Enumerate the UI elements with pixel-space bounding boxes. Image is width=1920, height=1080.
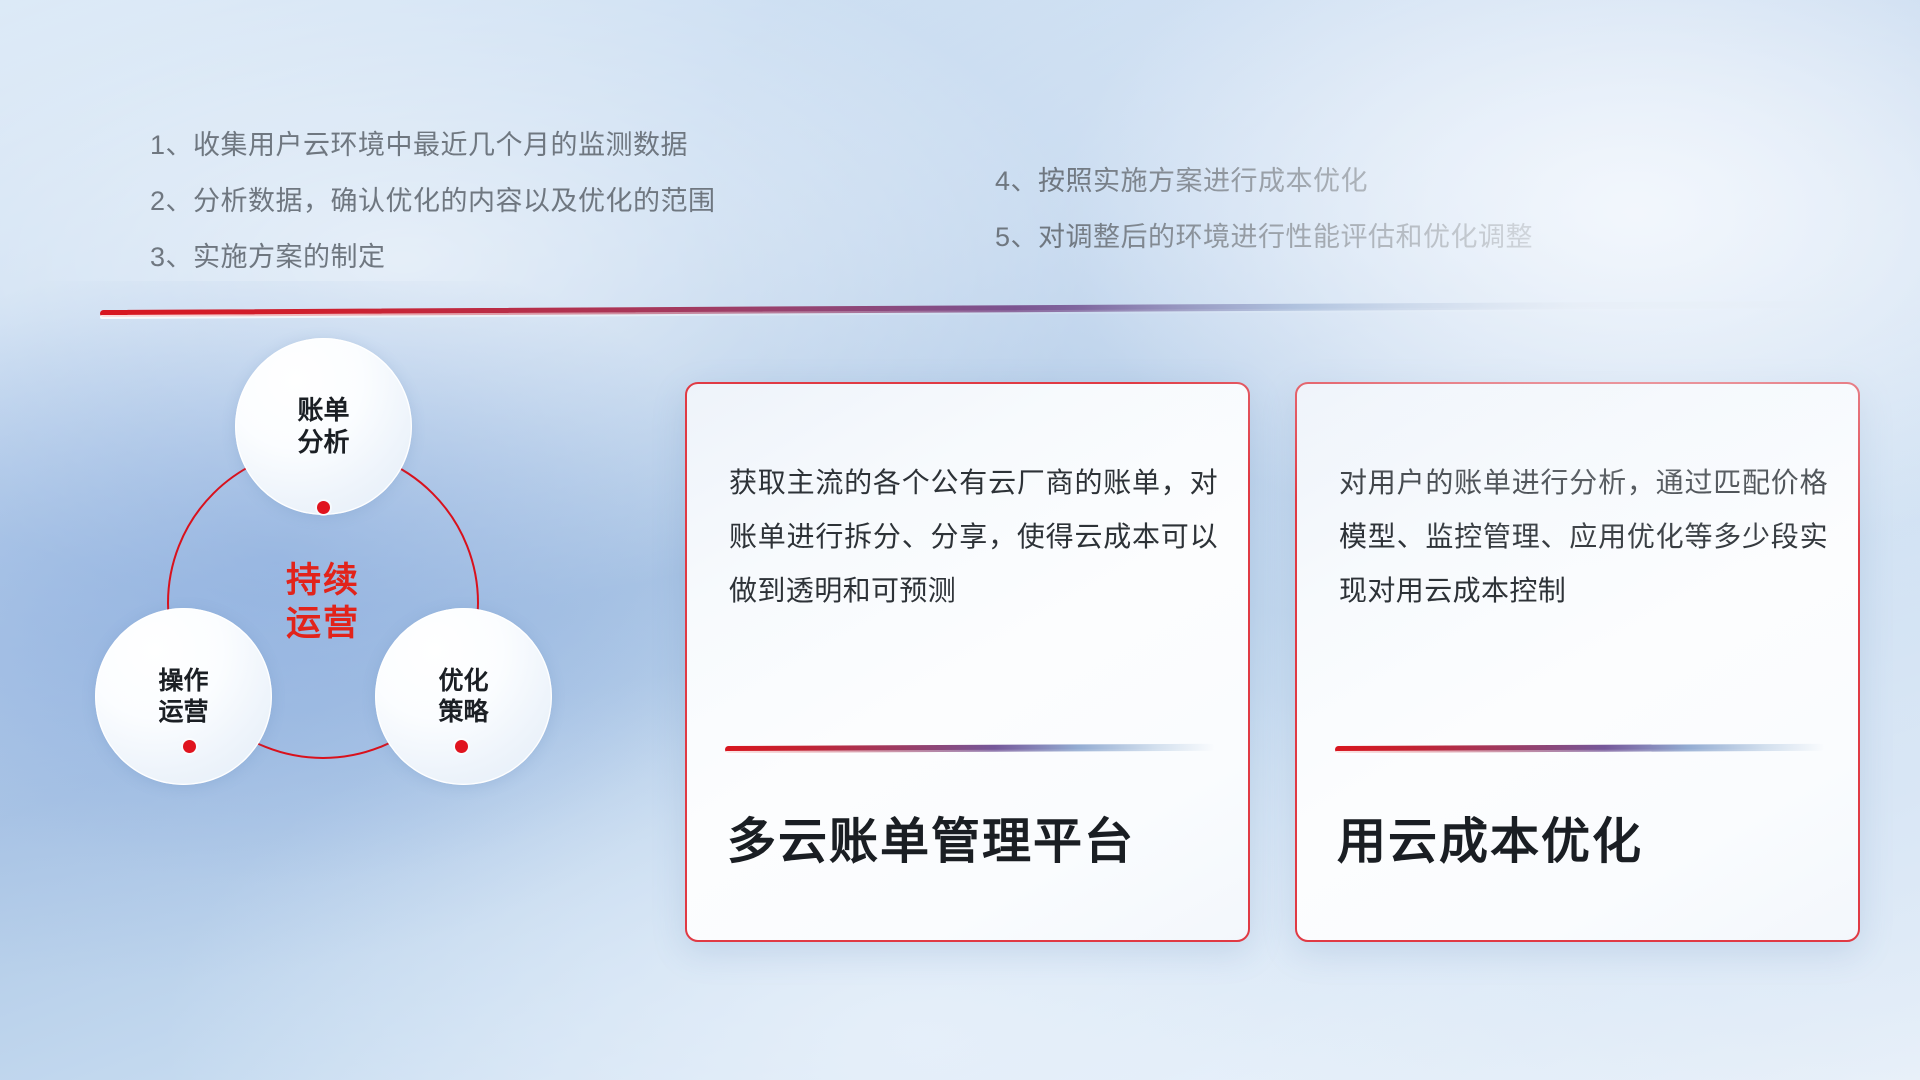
bubble-label-line2: 运营	[158, 697, 208, 728]
card-body-text: 对用户的账单进行分析，通过匹配价格模型、监控管理、应用优化等多少段实现对用云成本…	[1339, 456, 1828, 618]
card-divider	[1335, 744, 1825, 753]
venn-bubble-optimization-strategy[interactable]: 优化 策略	[375, 608, 552, 785]
slide-canvas: 1、收集用户云环境中最近几个月的监测数据 2、分析数据，确认优化的内容以及优化的…	[0, 0, 1920, 1080]
bubble-label-line2: 策略	[438, 697, 488, 728]
venn-node-left-dot	[183, 740, 196, 753]
bubble-label-line1: 优化	[438, 666, 488, 697]
venn-node-right-dot	[455, 740, 468, 753]
bubble-label-line2: 分析	[297, 427, 349, 459]
step-item: 4、按照实施方案进行成本优化	[995, 168, 1533, 195]
venn-node-top-dot	[317, 501, 330, 514]
steps-list-right: 4、按照实施方案进行成本优化 5、对调整后的环境进行性能评估和优化调整	[995, 168, 1533, 280]
step-item: 2、分析数据，确认优化的内容以及优化的范围	[150, 188, 716, 215]
step-item: 1、收集用户云环境中最近几个月的监测数据	[150, 132, 716, 159]
card-cloud-cost-optimization[interactable]: 对用户的账单进行分析，通过匹配价格模型、监控管理、应用优化等多少段实现对用云成本…	[1295, 382, 1860, 942]
venn-bubble-bill-analysis[interactable]: 账单 分析	[235, 338, 412, 515]
card-multicloud-billing-platform[interactable]: 获取主流的各个公有云厂商的账单，对账单进行拆分、分享，使得云成本可以做到透明和可…	[685, 382, 1250, 942]
venn-diagram: 持续 运营 账单 分析 操作 运营 优化 策略	[95, 350, 615, 910]
steps-list-left: 1、收集用户云环境中最近几个月的监测数据 2、分析数据，确认优化的内容以及优化的…	[150, 132, 716, 300]
card-title: 用云成本优化	[1337, 802, 1643, 873]
venn-bubble-operations[interactable]: 操作 运营	[95, 608, 272, 785]
section-divider	[100, 301, 1860, 317]
step-item: 3、实施方案的制定	[150, 244, 716, 271]
step-item: 5、对调整后的环境进行性能评估和优化调整	[995, 224, 1533, 251]
venn-center-label-line1: 持续	[286, 560, 360, 603]
bubble-label-line1: 操作	[158, 666, 208, 697]
card-body-text: 获取主流的各个公有云厂商的账单，对账单进行拆分、分享，使得云成本可以做到透明和可…	[729, 456, 1218, 618]
bubble-label-line1: 账单	[297, 395, 349, 427]
card-divider	[725, 744, 1215, 753]
card-title: 多云账单管理平台	[727, 802, 1135, 873]
venn-center-label-line2: 运营	[286, 603, 360, 646]
